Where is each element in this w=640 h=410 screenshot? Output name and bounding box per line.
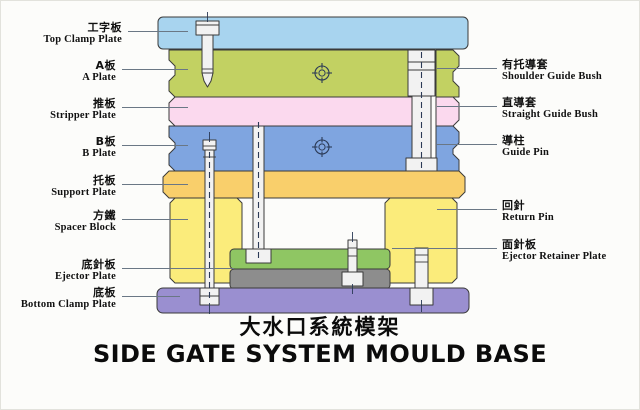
leader-shoulder-guide-bush [437, 68, 497, 69]
label-ejector-plate: 底針板 Ejector Plate [0, 259, 116, 282]
label-ejector-retainer-plate-en: Ejector Retainer Plate [502, 251, 606, 262]
label-straight-guide-bush-en: Straight Guide Bush [502, 109, 598, 120]
label-straight-guide-bush: 直導套 Straight Guide Bush [502, 97, 598, 120]
title-english: SIDE GATE SYSTEM MOULD BASE [0, 340, 640, 368]
label-ejector-retainer-plate: 面針板 Ejector Retainer Plate [502, 239, 606, 262]
title-chinese: 大水口系統模架 [0, 311, 640, 341]
label-shoulder-guide-bush-cn: 有托導套 [502, 59, 602, 71]
label-support-plate-en: Support Plate [0, 187, 116, 198]
leader-b-plate [122, 145, 188, 146]
label-bottom-clamp-plate-cn: 底板 [0, 287, 116, 299]
label-guide-pin-cn: 導柱 [502, 135, 549, 147]
label-b-plate: B板 B Plate [0, 136, 116, 159]
label-shoulder-guide-bush-en: Shoulder Guide Bush [502, 71, 602, 82]
leader-guide-pin [437, 144, 497, 145]
leader-bottom-clamp-plate [122, 296, 180, 297]
ejector-plate-body [230, 269, 390, 289]
leader-a-plate [122, 69, 188, 70]
top-clamp-cap-screw-head [196, 21, 219, 35]
label-guide-pin: 導柱 Guide Pin [502, 135, 549, 158]
b-plate-right-segment [436, 126, 459, 171]
label-spacer-block-cn: 方鐵 [0, 210, 116, 222]
label-shoulder-guide-bush: 有托導套 Shoulder Guide Bush [502, 59, 602, 82]
label-ejector-plate-cn: 底針板 [0, 259, 116, 271]
label-b-plate-en: B Plate [0, 148, 116, 159]
guide-pin-lower-shaft [415, 248, 428, 288]
leader-stripper-plate [122, 107, 188, 108]
leader-spacer-block [122, 219, 188, 220]
leader-support-plate [122, 184, 188, 185]
label-a-plate: A板 A Plate [0, 60, 116, 83]
label-top-clamp-plate-en: Top Clamp Plate [0, 34, 122, 45]
label-guide-pin-en: Guide Pin [502, 147, 549, 158]
leader-ejector-retainer-plate [392, 248, 497, 249]
label-b-plate-cn: B板 [0, 136, 116, 148]
label-return-pin-en: Return Pin [502, 212, 554, 223]
label-a-plate-en: A Plate [0, 72, 116, 83]
label-return-pin-cn: 回針 [502, 200, 554, 212]
label-support-plate: 托板 Support Plate [0, 175, 116, 198]
label-top-clamp-plate-cn: 工字板 [0, 22, 122, 34]
leader-return-pin [437, 209, 497, 210]
label-top-clamp-plate: 工字板 Top Clamp Plate [0, 22, 122, 45]
label-spacer-block: 方鐵 Spacer Block [0, 210, 116, 233]
label-stripper-plate: 推板 Stripper Plate [0, 98, 116, 121]
label-support-plate-cn: 托板 [0, 175, 116, 187]
label-return-pin: 回針 Return Pin [502, 200, 554, 223]
label-bottom-clamp-plate: 底板 Bottom Clamp Plate [0, 287, 116, 310]
top-clamp-cap-screw-shank [202, 35, 213, 73]
label-bottom-clamp-plate-en: Bottom Clamp Plate [0, 299, 116, 310]
stripper-plate-right-segment [436, 97, 459, 126]
label-straight-guide-bush-cn: 直導套 [502, 97, 598, 109]
mould-base-diagram-page: 工字板 Top Clamp Plate A板 A Plate 推板 Stripp… [0, 0, 640, 410]
label-stripper-plate-en: Stripper Plate [0, 110, 116, 121]
label-spacer-block-en: Spacer Block [0, 222, 116, 233]
a-plate-right-segment [436, 50, 459, 97]
label-a-plate-cn: A板 [0, 60, 116, 72]
label-ejector-plate-en: Ejector Plate [0, 271, 116, 282]
label-ejector-retainer-plate-cn: 面針板 [502, 239, 606, 251]
leader-ejector-plate [122, 268, 234, 269]
leader-top-clamp-plate [128, 31, 188, 32]
ejector-retainer-screw-head [342, 272, 363, 286]
stripper-plate-body [169, 97, 427, 126]
leader-straight-guide-bush [437, 106, 497, 107]
label-stripper-plate-cn: 推板 [0, 98, 116, 110]
